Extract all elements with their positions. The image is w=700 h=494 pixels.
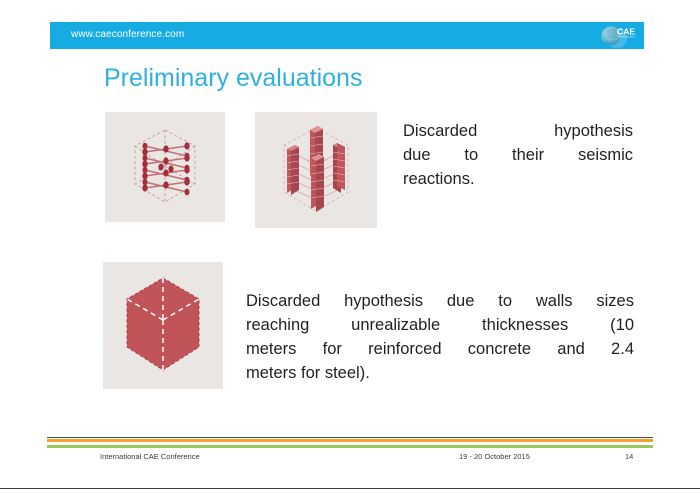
seismic-line-2: due to their seismic — [403, 143, 633, 167]
seismic-line-1: Discarded hypothesis — [403, 119, 633, 143]
walls-line-3: meters for reinforced concrete and 2.4 — [246, 337, 634, 361]
footer-conference-name: International CAE Conference — [100, 452, 200, 461]
bottom-separator — [0, 488, 700, 489]
walls-line-2: reaching unrealizable thicknesses (10 — [246, 313, 634, 337]
footer-rule-orange — [47, 439, 653, 442]
walls-paragraph: Discarded hypothesis due to walls sizes … — [246, 289, 634, 385]
cae-logo[interactable]: CAE INTERNATIONAL CONFERENCE — [596, 23, 636, 48]
lattice-cube-figure — [105, 112, 225, 222]
cae-logo-icon: CAE INTERNATIONAL CONFERENCE — [596, 23, 636, 48]
column-frame-figure — [255, 112, 377, 228]
footer-date: 19 - 20 October 2015 — [459, 452, 530, 461]
header-bar: www.caeconference.com CAE INTE — [50, 22, 644, 49]
walls-line-4: meters for steel). — [246, 361, 634, 385]
seismic-line-3: reactions. — [403, 167, 633, 191]
cae-logo-subtext: INTERNATIONAL CONFERENCE — [617, 36, 636, 39]
footer-rule-green — [47, 445, 653, 448]
column-frame-icon — [255, 112, 377, 228]
solid-cube-icon — [103, 262, 223, 389]
walls-line-1: Discarded hypothesis due to walls sizes — [246, 289, 634, 313]
slide-canvas: www.caeconference.com CAE INTE — [0, 0, 700, 494]
footer-rule-dark — [47, 437, 653, 438]
header-website-url[interactable]: www.caeconference.com — [71, 29, 184, 40]
footer-page-number: 14 — [625, 452, 633, 461]
page-title: Preliminary evaluations — [104, 64, 362, 93]
seismic-paragraph: Discarded hypothesis due to their seismi… — [403, 119, 633, 191]
lattice-cube-icon — [105, 112, 225, 222]
cae-logo-text: CAE — [617, 26, 635, 36]
solid-cube-figure — [103, 262, 223, 389]
